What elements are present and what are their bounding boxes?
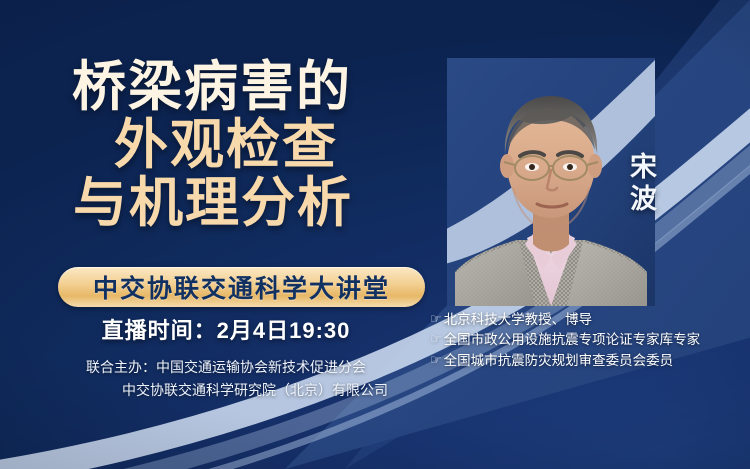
title-line-3: 与机理分析 (0, 176, 430, 230)
speaker-portrait-image (447, 58, 655, 306)
credential-row: ☞ 北京科技大学教授、博导 (430, 310, 700, 330)
speaker-credentials: ☞ 北京科技大学教授、博导 ☞ 全国市政公用设施抗震专项论证专家库专家 ☞ 全国… (430, 310, 700, 371)
organizer-line-1: 联合主办：中国交通运输协会新技术促进分会 (0, 356, 452, 379)
speaker-portrait (447, 58, 655, 306)
series-banner: 中交协联交通科学大讲堂 (58, 267, 425, 307)
speaker-name-char-2: 波 (630, 184, 658, 216)
credential-row: ☞ 全国城市抗震防灾规划审查委员会委员 (430, 351, 700, 371)
series-banner-label: 中交协联交通科学大讲堂 (93, 269, 390, 305)
speaker-name-char-1: 宋 (630, 152, 658, 184)
left-content-column: 桥梁病害的 外观检查 与机理分析 中交协联交通科学大讲堂 直播时间：2月4日19… (0, 0, 452, 469)
title-line-1: 桥梁病害的 (0, 60, 430, 114)
live-time-text: 直播时间：2月4日19:30 (0, 313, 452, 345)
speaker-name: 宋 波 (630, 152, 658, 216)
pointing-hand-icon: ☞ (430, 350, 442, 370)
organizers-block: 联合主办：中国交通运输协会新技术促进分会 中交协联交通科学研究院（北京）有限公司 (0, 356, 452, 402)
credential-text: 北京科技大学教授、博导 (444, 310, 593, 330)
organizer-line-2: 中交协联交通科学研究院（北京）有限公司 (0, 379, 452, 402)
webinar-poster: 桥梁病害的 外观检查 与机理分析 中交协联交通科学大讲堂 直播时间：2月4日19… (0, 0, 750, 469)
credential-text: 全国城市抗震防灾规划审查委员会委员 (444, 351, 674, 371)
credential-row: ☞ 全国市政公用设施抗震专项论证专家库专家 (430, 330, 700, 350)
page-title: 桥梁病害的 外观检查 与机理分析 (0, 60, 430, 230)
credential-text: 全国市政公用设施抗震专项论证专家库专家 (444, 330, 701, 350)
pointing-hand-icon: ☞ (430, 309, 442, 329)
title-line-2: 外观检查 (22, 118, 430, 172)
pointing-hand-icon: ☞ (430, 329, 442, 349)
